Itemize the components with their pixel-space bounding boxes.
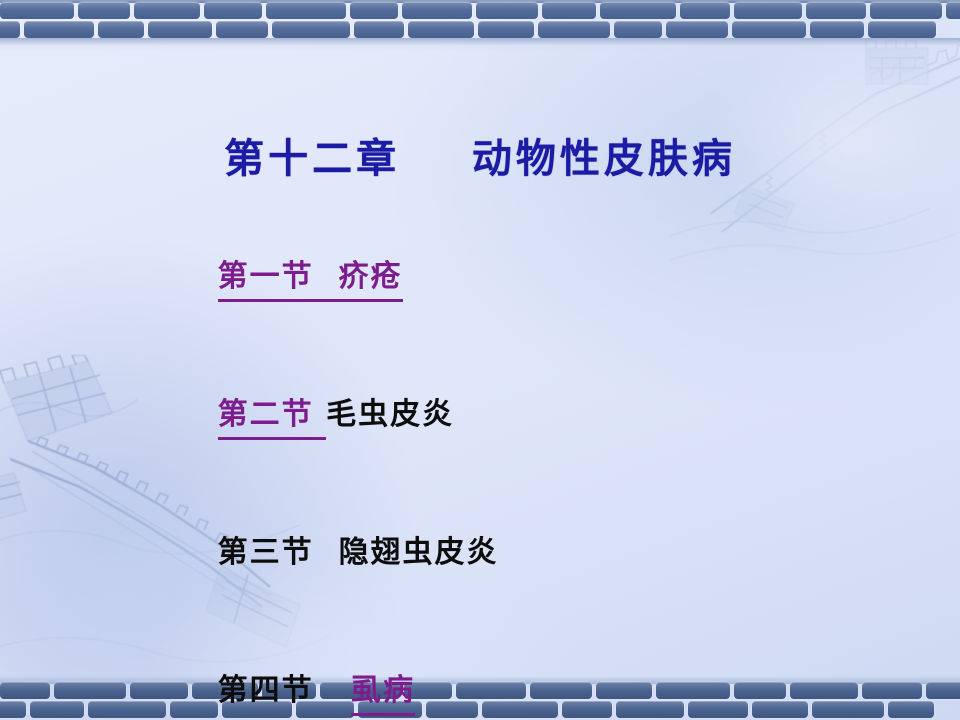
toc-item-2-gap [314, 397, 326, 440]
toc-item-section-1[interactable]: 第一节 疥疮 [143, 232, 843, 322]
slide-canvas: 第十二章 动物性皮肤病 第一节 疥疮 第二节 毛虫皮炎 第三节 隐翅虫皮炎 第四… [0, 0, 960, 720]
toc-item-section-4[interactable]: 第四节 虱病 [143, 646, 843, 720]
toc-item-section-3[interactable]: 第三节 隐翅虫皮炎 [143, 508, 843, 598]
toc-item-section-2[interactable]: 第二节 毛虫皮炎 [143, 370, 843, 460]
toc-item-4-gap [314, 673, 351, 708]
brick-row [0, 2, 960, 19]
toc-item-4-label: 第四节 [218, 673, 314, 708]
toc-item-3-topic: 隐翅虫皮炎 [339, 535, 499, 570]
toc-item-1-topic: 疥疮 [339, 259, 403, 302]
brick-row [0, 21, 960, 38]
table-of-contents: 第一节 疥疮 第二节 毛虫皮炎 第三节 隐翅虫皮炎 第四节 虱病 [143, 232, 843, 720]
brick-fade [0, 38, 960, 52]
slide-title: 第十二章 动物性皮肤病 [0, 126, 960, 184]
toc-item-1-gap [314, 259, 339, 302]
toc-item-3-label: 第三节 [218, 535, 314, 570]
toc-item-2-topic: 毛虫皮炎 [326, 397, 454, 432]
toc-item-2-label: 第二节 [218, 397, 314, 440]
brick-border-top [0, 0, 960, 52]
toc-item-4-topic: 虱病 [351, 673, 415, 716]
toc-item-1-label: 第一节 [218, 259, 314, 302]
toc-item-3-gap [314, 535, 339, 570]
